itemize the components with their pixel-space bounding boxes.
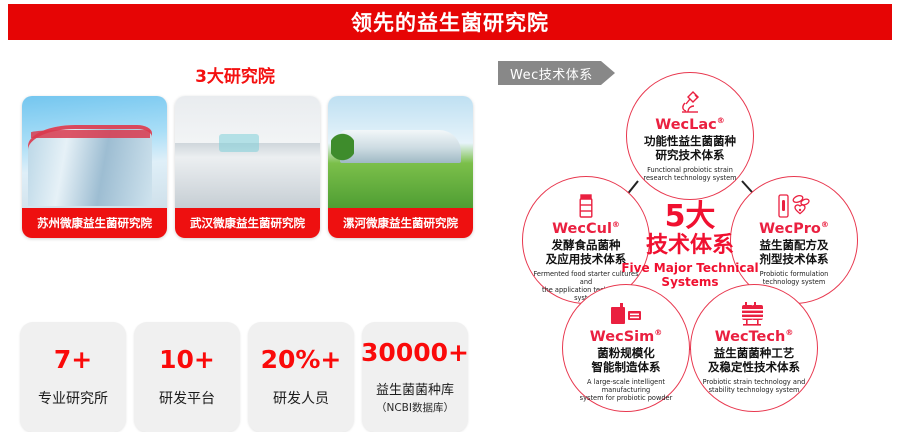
- node-cn-line1: 益生菌菌种工艺: [708, 347, 800, 361]
- node-cn-line2: 研究技术体系: [644, 149, 736, 163]
- institute-card[interactable]: 武汉微康益生菌研究院: [175, 96, 320, 238]
- node-cn-line1: 功能性益生菌菌种: [644, 135, 736, 149]
- node-en: Probiotic formulation technology system: [760, 270, 829, 286]
- node-cn-line2: 及应用技术体系: [546, 253, 627, 267]
- stat-card: 7+ 专业研究所: [20, 322, 126, 432]
- node-title: WecSim®: [590, 329, 662, 344]
- node-en-line1: Probiotic formulation: [760, 270, 829, 278]
- microscope-icon: [676, 85, 704, 115]
- stat-card: 10+ 研发平台: [134, 322, 240, 432]
- node-cn: 菌粉规模化 智能制造体系: [592, 347, 661, 375]
- node-title: WecLac®: [655, 117, 725, 132]
- node-en-line1: Probiotic strain technology and: [703, 378, 806, 386]
- registered-mark: ®: [612, 220, 620, 229]
- node-en: A large-scale intelligent manufacturing …: [570, 378, 682, 402]
- stat-card: 30000+ 益生菌菌种库 （NCBI数据库）: [362, 322, 468, 432]
- stat-label: 研发平台: [159, 388, 215, 408]
- node-cn: 功能性益生菌菌种 研究技术体系: [644, 135, 736, 163]
- node-cn-line1: 菌粉规模化: [592, 347, 661, 361]
- stat-label: 益生菌菌种库: [376, 379, 454, 398]
- page-title: 领先的益生菌研究院: [351, 7, 549, 37]
- luohe-building-photo: [328, 96, 473, 208]
- node-en-line2: system for probiotic powder: [570, 394, 682, 402]
- stat-sub-label: （NCBI数据库）: [376, 400, 454, 415]
- node-title-text: WecCul: [552, 221, 612, 237]
- node-cn-line1: 益生菌配方及: [760, 239, 829, 253]
- node-cn: 益生菌配方及 剂型技术体系: [760, 239, 829, 267]
- registered-mark: ®: [717, 116, 725, 125]
- suzhou-building-photo: [22, 96, 167, 208]
- node-cn-line2: 及稳定性技术体系: [708, 361, 800, 375]
- institute-card-list: 苏州微康益生菌研究院 武汉微康益生菌研究院 漯河微康益生菌研究院: [22, 96, 473, 238]
- node-en-line2: stability technology system: [703, 386, 806, 394]
- stat-value: 7+: [54, 347, 92, 372]
- stat-value: 30000+: [361, 340, 469, 365]
- node-cn-line2: 剂型技术体系: [760, 253, 829, 267]
- registered-mark: ®: [785, 328, 793, 337]
- node-en-line1: A large-scale intelligent manufacturing: [570, 378, 682, 394]
- node-wectech[interactable]: WecTech® 益生菌菌种工艺 及稳定性技术体系 Probiotic stra…: [690, 284, 818, 412]
- five-systems-diagram: WecLac® 功能性益生菌菌种 研究技术体系 Functional probi…: [480, 44, 900, 418]
- registered-mark: ®: [821, 220, 829, 229]
- milk-carton-icon: [578, 189, 594, 219]
- node-en-line2: technology system: [760, 278, 829, 286]
- registered-mark: ®: [654, 328, 662, 337]
- node-cn-line2: 智能制造体系: [592, 361, 661, 375]
- stat-card: 20%+ 研发人员: [248, 322, 354, 432]
- node-title-text: WecPro: [759, 221, 821, 237]
- node-en-line1: Functional probiotic strain: [643, 166, 736, 174]
- page-header-bar: 领先的益生菌研究院: [8, 4, 892, 40]
- factory-machine-icon: [609, 297, 643, 327]
- stat-value: 10+: [159, 347, 215, 372]
- stat-value: 20%+: [261, 347, 342, 372]
- node-wecsim[interactable]: WecSim® 菌粉规模化 智能制造体系 A large-scale intel…: [562, 284, 690, 412]
- node-cn-line1: 发酵食品菌种: [546, 239, 627, 253]
- institute-card[interactable]: 苏州微康益生菌研究院: [22, 96, 167, 238]
- node-weclac[interactable]: WecLac® 功能性益生菌菌种 研究技术体系 Functional probi…: [626, 72, 754, 200]
- institute-card-label: 漯河微康益生菌研究院: [328, 208, 473, 238]
- node-title: WecPro®: [759, 221, 829, 236]
- node-title-text: WecLac: [655, 117, 717, 133]
- stat-label: 研发人员: [273, 388, 329, 408]
- node-en: Functional probiotic strain research tec…: [643, 166, 736, 182]
- node-cn: 益生菌菌种工艺 及稳定性技术体系: [708, 347, 800, 375]
- left-panel: 3大研究院 苏州微康益生菌研究院 武汉微康益生菌研究院 漯河微康益生菌研究院 7…: [0, 44, 480, 418]
- institute-card-label: 苏州微康益生菌研究院: [22, 208, 167, 238]
- institute-card-label: 武汉微康益生菌研究院: [175, 208, 320, 238]
- fermentation-tank-icon: [740, 297, 768, 327]
- node-title: WecTech®: [715, 329, 794, 344]
- stat-card-list: 7+ 专业研究所 10+ 研发平台 20%+ 研发人员 30000+ 益生菌菌种…: [20, 322, 468, 432]
- node-en-line2: research technology system: [643, 174, 736, 182]
- node-title-text: WecSim: [590, 329, 654, 345]
- node-title: WecCul®: [552, 221, 620, 236]
- node-cn: 发酵食品菌种 及应用技术体系: [546, 239, 627, 267]
- institute-card[interactable]: 漯河微康益生菌研究院: [328, 96, 473, 238]
- node-title-text: WecTech: [715, 329, 786, 345]
- sachet-capsule-icon: [777, 189, 811, 219]
- institutes-heading: 3大研究院: [0, 62, 470, 87]
- node-en: Probiotic strain technology and stabilit…: [703, 378, 806, 394]
- stat-label: 专业研究所: [38, 388, 108, 408]
- wuhan-laboratory-photo: [175, 96, 320, 208]
- right-panel: Wec技术体系: [480, 44, 900, 418]
